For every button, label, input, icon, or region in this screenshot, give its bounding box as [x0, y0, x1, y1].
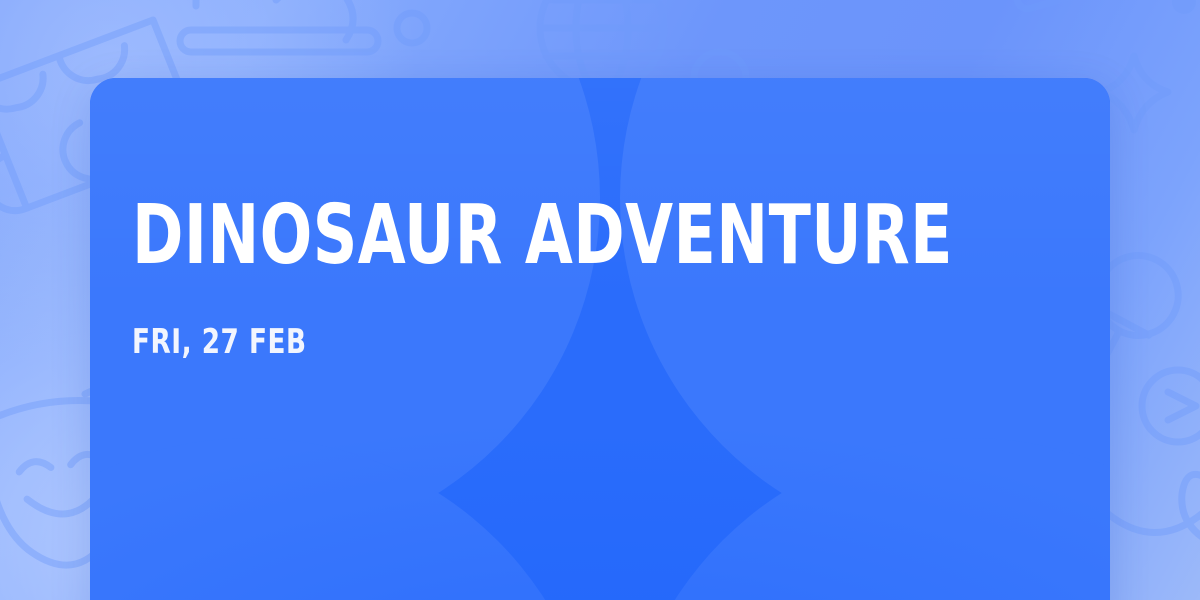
circle-icon — [397, 13, 427, 43]
dinosaur-icon — [180, 0, 378, 52]
event-card-content: Dinosaur Adventure Fri, 27 Feb — [132, 198, 1068, 359]
event-banner-page: Dinosaur Adventure Fri, 27 Feb — [0, 0, 1200, 600]
paper-plane-icon — [1142, 370, 1200, 442]
event-card[interactable]: Dinosaur Adventure Fri, 27 Feb — [90, 78, 1110, 600]
sparkle-icon — [1100, 56, 1168, 130]
dinosaur-icon — [1007, 0, 1183, 21]
event-title: Dinosaur Adventure — [132, 198, 918, 273]
event-date: Fri, 27 Feb — [132, 325, 937, 359]
sparkle-icon — [1172, 0, 1196, 14]
globe-icon — [540, 0, 664, 90]
